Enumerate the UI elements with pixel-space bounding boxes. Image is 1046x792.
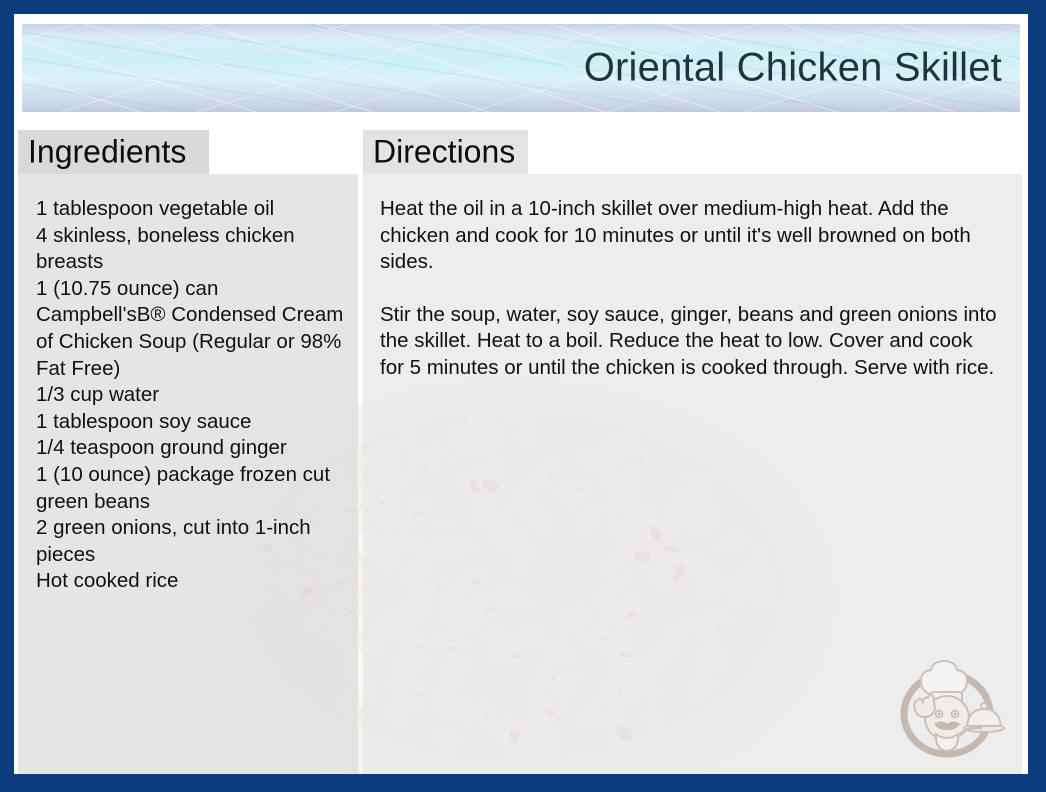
ingredient-item: 1 tablespoon vegetable oil <box>36 196 348 223</box>
ingredients-tab: Ingredients <box>18 130 209 174</box>
recipe-card: Oriental Chicken Skillet Ingredients 1 t… <box>14 14 1028 774</box>
ingredient-item: 1/4 teaspoon ground ginger <box>36 435 348 462</box>
ingredient-item: 1 tablespoon soy sauce <box>36 409 348 436</box>
direction-step: Heat the oil in a 10-inch skillet over m… <box>380 196 1000 276</box>
directions-tab: Directions <box>363 130 528 174</box>
directions-heading: Directions <box>373 134 515 171</box>
ingredients-panel: Ingredients 1 tablespoon vegetable oil4 … <box>18 130 358 774</box>
ingredients-list: 1 tablespoon vegetable oil4 skinless, bo… <box>36 196 348 595</box>
ingredient-item: 4 skinless, boneless chicken breasts <box>36 223 348 276</box>
ingredients-body: 1 tablespoon vegetable oil4 skinless, bo… <box>18 174 358 774</box>
ingredient-item: 2 green onions, cut into 1-inch pieces <box>36 515 348 568</box>
chef-logo-icon <box>892 648 1010 760</box>
directions-steps: Heat the oil in a 10-inch skillet over m… <box>380 196 1000 382</box>
page-title: Oriental Chicken Skillet <box>584 46 1002 91</box>
ingredient-item: 1/3 cup water <box>36 382 348 409</box>
ingredients-heading: Ingredients <box>28 134 186 171</box>
ingredient-item: 1 (10.75 ounce) can Campbell'sB® Condens… <box>36 276 348 382</box>
header-banner: Oriental Chicken Skillet <box>22 24 1020 112</box>
direction-step: Stir the soup, water, soy sauce, ginger,… <box>380 302 1000 382</box>
ingredient-item: 1 (10 ounce) package frozen cut green be… <box>36 462 348 515</box>
ingredient-item: Hot cooked rice <box>36 568 348 595</box>
